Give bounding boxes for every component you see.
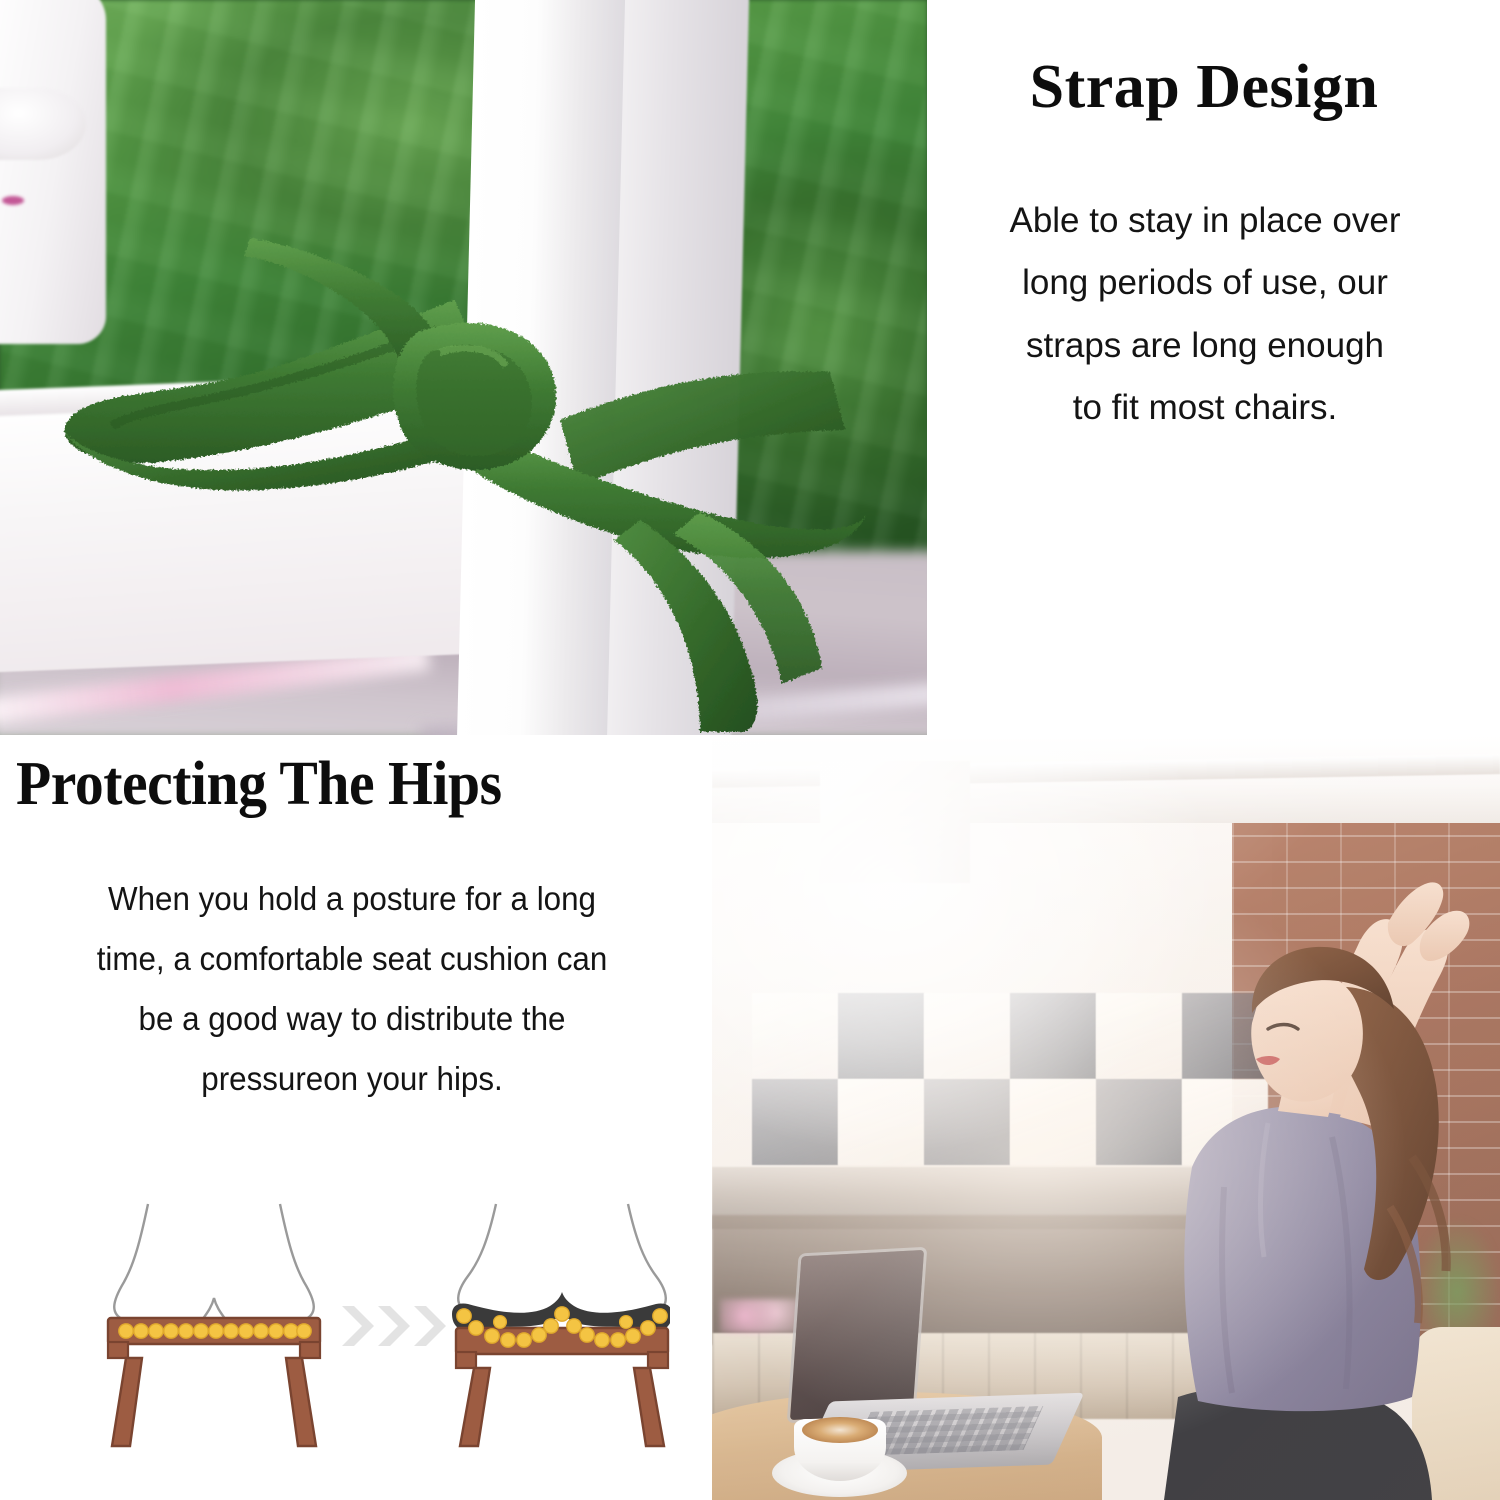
diagram-after bbox=[452, 1204, 670, 1446]
stool-leg-right-before bbox=[286, 1358, 316, 1446]
strap-design-text-panel: Strap Design Able to stay in place over … bbox=[930, 0, 1500, 735]
pressure-comparison-diagram bbox=[90, 1202, 670, 1452]
strap-body-line-4: to fit most chairs. bbox=[968, 377, 1442, 439]
strap-body-line-2: long periods of use, our bbox=[968, 252, 1442, 314]
tied-strap-bow bbox=[0, 0, 927, 735]
hips-body-line-1: When you hold a posture for a long bbox=[39, 869, 666, 929]
protecting-hips-body: When you hold a posture for a long time,… bbox=[39, 869, 666, 1109]
protecting-hips-panel: Protecting The Hips When you hold a post… bbox=[0, 737, 712, 1500]
transition-arrows bbox=[342, 1306, 446, 1346]
protecting-hips-photo bbox=[712, 737, 1500, 1500]
strap-design-body: Able to stay in place over long periods … bbox=[968, 190, 1442, 439]
latte-art bbox=[802, 1417, 878, 1443]
diagram-before bbox=[108, 1204, 320, 1446]
strap-design-title: Strap Design bbox=[930, 52, 1478, 123]
infographic-page: Strap Design Able to stay in place over … bbox=[0, 0, 1500, 1500]
hips-body-line-3: be a good way to distribute the bbox=[39, 989, 666, 1049]
stool-leg-left-after bbox=[460, 1368, 490, 1446]
protecting-hips-title: Protecting The Hips bbox=[16, 749, 667, 820]
hips-body-line-4: pressureon your hips. bbox=[39, 1049, 666, 1109]
strap-body-line-1: Able to stay in place over bbox=[968, 190, 1442, 252]
stool-leg-right-after bbox=[634, 1368, 664, 1446]
stool-leg-left-before bbox=[112, 1358, 142, 1446]
strap-design-photo bbox=[0, 0, 927, 735]
hips-body-line-2: time, a comfortable seat cushion can bbox=[39, 929, 666, 989]
body-outline-before bbox=[114, 1204, 314, 1320]
woman-stretching bbox=[712, 737, 1500, 1500]
strap-body-line-3: straps are long enough bbox=[968, 315, 1442, 377]
